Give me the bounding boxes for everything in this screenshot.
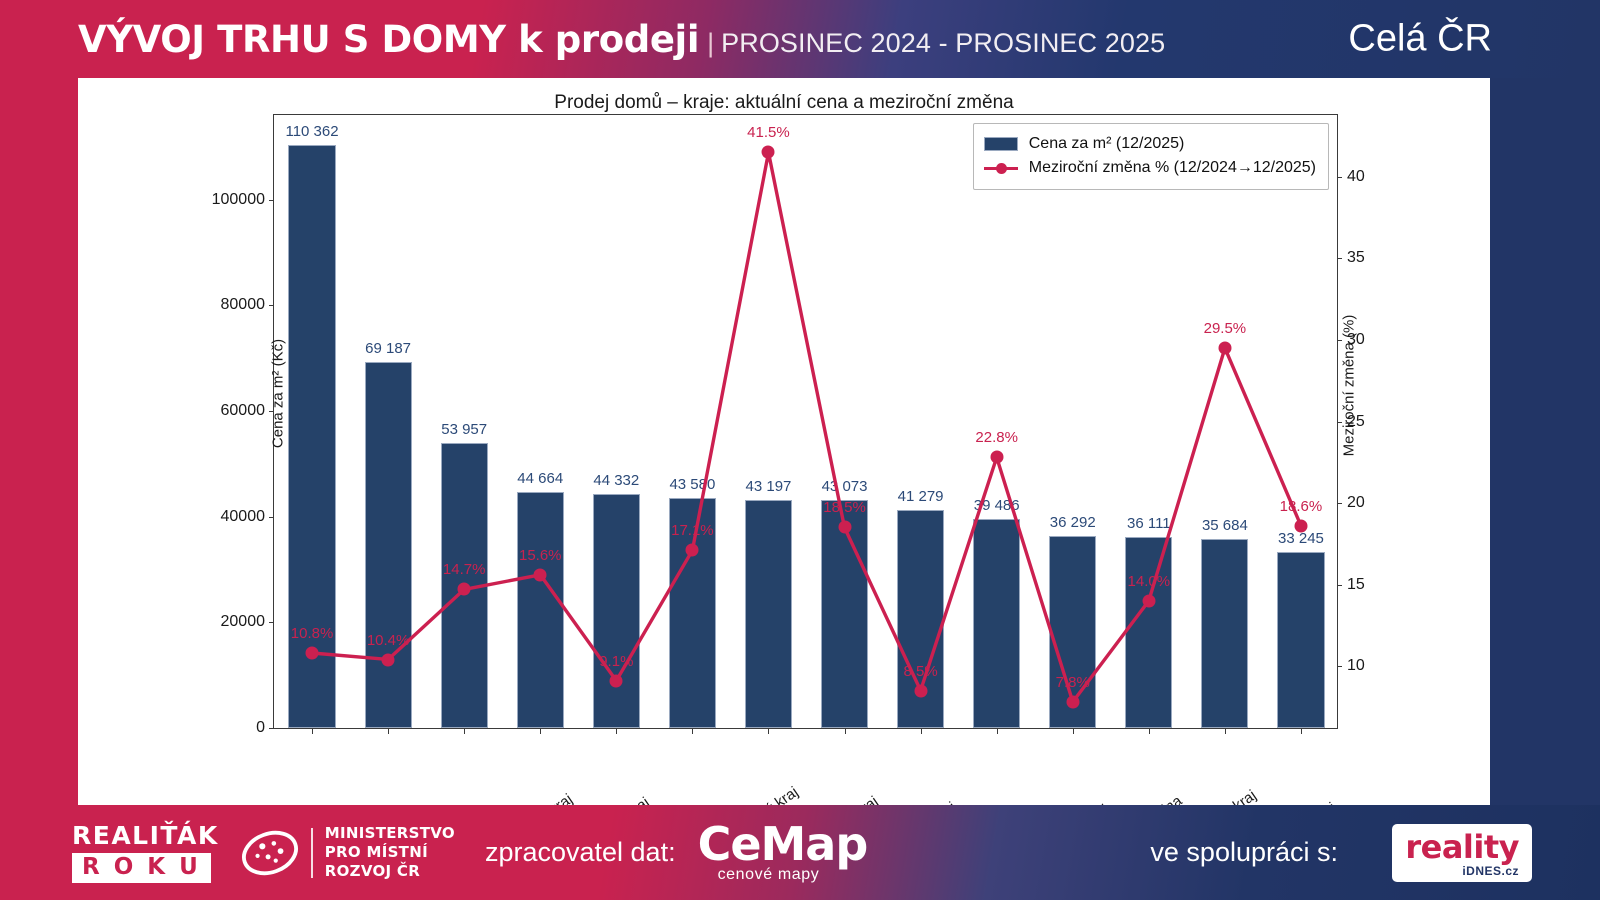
y-axis-tick-right: 10 bbox=[1337, 657, 1365, 675]
cemap-logo: CeMap cenové mapy bbox=[698, 823, 868, 882]
line-point-14[interactable] bbox=[1294, 519, 1307, 532]
y-axis-tick-right: 40 bbox=[1337, 168, 1365, 186]
processor-label: zpracovatel dat: bbox=[485, 837, 676, 868]
x-axis-tick bbox=[312, 728, 313, 734]
x-axis-tick bbox=[464, 728, 465, 734]
reality-idnes-logo[interactable]: reality iDNES.cz bbox=[1392, 824, 1532, 882]
chart-title: Prodej domů – kraje: aktuální cena a mez… bbox=[78, 92, 1490, 114]
y-axis-label-right: Meziroční změna (%) bbox=[1341, 276, 1358, 496]
line-point-7[interactable] bbox=[762, 146, 775, 159]
line-point-4[interactable] bbox=[534, 568, 547, 581]
legend-item-bar: Cena za m² (12/2025) bbox=[984, 132, 1316, 156]
line-point-11[interactable] bbox=[1066, 695, 1079, 708]
line-point-2[interactable] bbox=[382, 653, 395, 666]
y-axis-tick-right: 25 bbox=[1337, 413, 1365, 431]
line-point-13[interactable] bbox=[1218, 342, 1231, 355]
line-value-label: 18.5% bbox=[823, 499, 866, 516]
line-series-path bbox=[274, 115, 1339, 728]
line-value-label: 14.0% bbox=[1128, 573, 1171, 590]
legend-label-bar: Cena za m² (12/2025) bbox=[1029, 135, 1185, 153]
ministry-name: MINISTERSTVO PRO MÍSTNÍ ROZVOJ ČR bbox=[325, 824, 455, 880]
line-point-3[interactable] bbox=[458, 583, 471, 596]
left-color-band bbox=[0, 78, 78, 805]
y-axis-tick-right: 15 bbox=[1337, 576, 1365, 594]
ministry-logo-group: MINISTERSTVO PRO MÍSTNÍ ROZVOJ ČR bbox=[241, 824, 455, 880]
reality-name: reality bbox=[1405, 828, 1519, 866]
x-axis-tick bbox=[768, 728, 769, 734]
y-axis-tick-left: 0 bbox=[256, 719, 274, 737]
page-header: VÝVOJ TRHU S DOMY k prodeji | PROSINEC 2… bbox=[0, 0, 1600, 78]
header-separator: | bbox=[707, 28, 714, 59]
cemap-name: CeMap bbox=[698, 817, 868, 871]
line-value-label: 7.8% bbox=[1056, 674, 1090, 691]
header-region: Celá ČR bbox=[1348, 18, 1492, 61]
line-value-label: 8.5% bbox=[903, 663, 937, 680]
x-axis-tick bbox=[540, 728, 541, 734]
line-point-6[interactable] bbox=[686, 544, 699, 557]
y-axis-tick-left: 20000 bbox=[221, 613, 275, 631]
line-point-10[interactable] bbox=[990, 451, 1003, 464]
page-title: VÝVOJ TRHU S DOMY k prodeji bbox=[78, 18, 699, 61]
y-axis-tick-right: 30 bbox=[1337, 331, 1365, 349]
realitak-line2: R O K U bbox=[72, 853, 211, 883]
realitak-roku-logo: REALIŤÁK R O K U bbox=[72, 823, 219, 883]
y-axis-tick-right: 20 bbox=[1337, 494, 1365, 512]
x-axis-tick bbox=[1301, 728, 1302, 734]
line-value-label: 22.8% bbox=[975, 429, 1018, 446]
chart-card: Prodej domů – kraje: aktuální cena a mez… bbox=[78, 78, 1490, 805]
x-axis-tick bbox=[1073, 728, 1074, 734]
line-point-8[interactable] bbox=[838, 521, 851, 534]
line-value-label: 9.1% bbox=[599, 653, 633, 670]
line-value-label: 18.6% bbox=[1280, 498, 1323, 515]
x-axis-tick bbox=[1149, 728, 1150, 734]
y-axis-tick-left: 100000 bbox=[212, 191, 274, 209]
header-subtitle: PROSINEC 2024 - PROSINEC 2025 bbox=[721, 28, 1165, 59]
cooperation-label: ve spolupráci s: bbox=[1150, 837, 1338, 868]
page-footer: REALIŤÁK R O K U MINISTERSTVO PRO MÍSTNÍ… bbox=[0, 805, 1600, 900]
line-point-9[interactable] bbox=[914, 684, 927, 697]
ministry-line2: PRO MÍSTNÍ bbox=[325, 843, 455, 862]
x-axis-tick bbox=[921, 728, 922, 734]
x-axis-tick bbox=[1225, 728, 1226, 734]
legend-label-line: Meziroční změna % (12/2024→12/2025) bbox=[1029, 159, 1316, 177]
ministry-line1: MINISTERSTVO bbox=[325, 824, 455, 843]
line-marker-icon bbox=[984, 161, 1018, 175]
right-color-band bbox=[1490, 78, 1600, 805]
line-value-label: 10.4% bbox=[367, 632, 410, 649]
plot-area: Cena za m² (Kč) Meziroční změna (%) Cena… bbox=[273, 114, 1338, 729]
footer-divider bbox=[311, 828, 313, 878]
line-value-label: 17.1% bbox=[671, 522, 714, 539]
x-axis-tick bbox=[997, 728, 998, 734]
line-value-label: 29.5% bbox=[1204, 320, 1247, 337]
x-axis-tick bbox=[845, 728, 846, 734]
line-value-label: 14.7% bbox=[443, 561, 486, 578]
y-axis-tick-left: 40000 bbox=[221, 508, 275, 526]
line-point-12[interactable] bbox=[1142, 594, 1155, 607]
x-axis-tick bbox=[692, 728, 693, 734]
chart-legend: Cena za m² (12/2025) Meziroční změna % (… bbox=[973, 123, 1329, 190]
line-value-label: 10.8% bbox=[291, 625, 334, 642]
bar-swatch-icon bbox=[984, 137, 1018, 151]
ministry-emblem-icon bbox=[241, 830, 299, 876]
line-value-label: 15.6% bbox=[519, 547, 562, 564]
realitak-line1: REALIŤÁK bbox=[72, 823, 219, 848]
line-point-5[interactable] bbox=[610, 674, 623, 687]
x-axis-tick bbox=[388, 728, 389, 734]
infographic-page: VÝVOJ TRHU S DOMY k prodeji | PROSINEC 2… bbox=[0, 0, 1600, 900]
y-axis-tick-left: 60000 bbox=[221, 402, 275, 420]
y-axis-tick-left: 80000 bbox=[221, 296, 275, 314]
header-title-group: VÝVOJ TRHU S DOMY k prodeji | PROSINEC 2… bbox=[78, 18, 1165, 61]
y-axis-tick-right: 35 bbox=[1337, 249, 1365, 267]
line-value-label: 41.5% bbox=[747, 124, 790, 141]
ministry-line3: ROZVOJ ČR bbox=[325, 862, 455, 881]
reality-sub: iDNES.cz bbox=[1405, 865, 1519, 877]
legend-item-line: Meziroční změna % (12/2024→12/2025) bbox=[984, 156, 1316, 180]
line-point-1[interactable] bbox=[306, 647, 319, 660]
x-axis-tick bbox=[616, 728, 617, 734]
